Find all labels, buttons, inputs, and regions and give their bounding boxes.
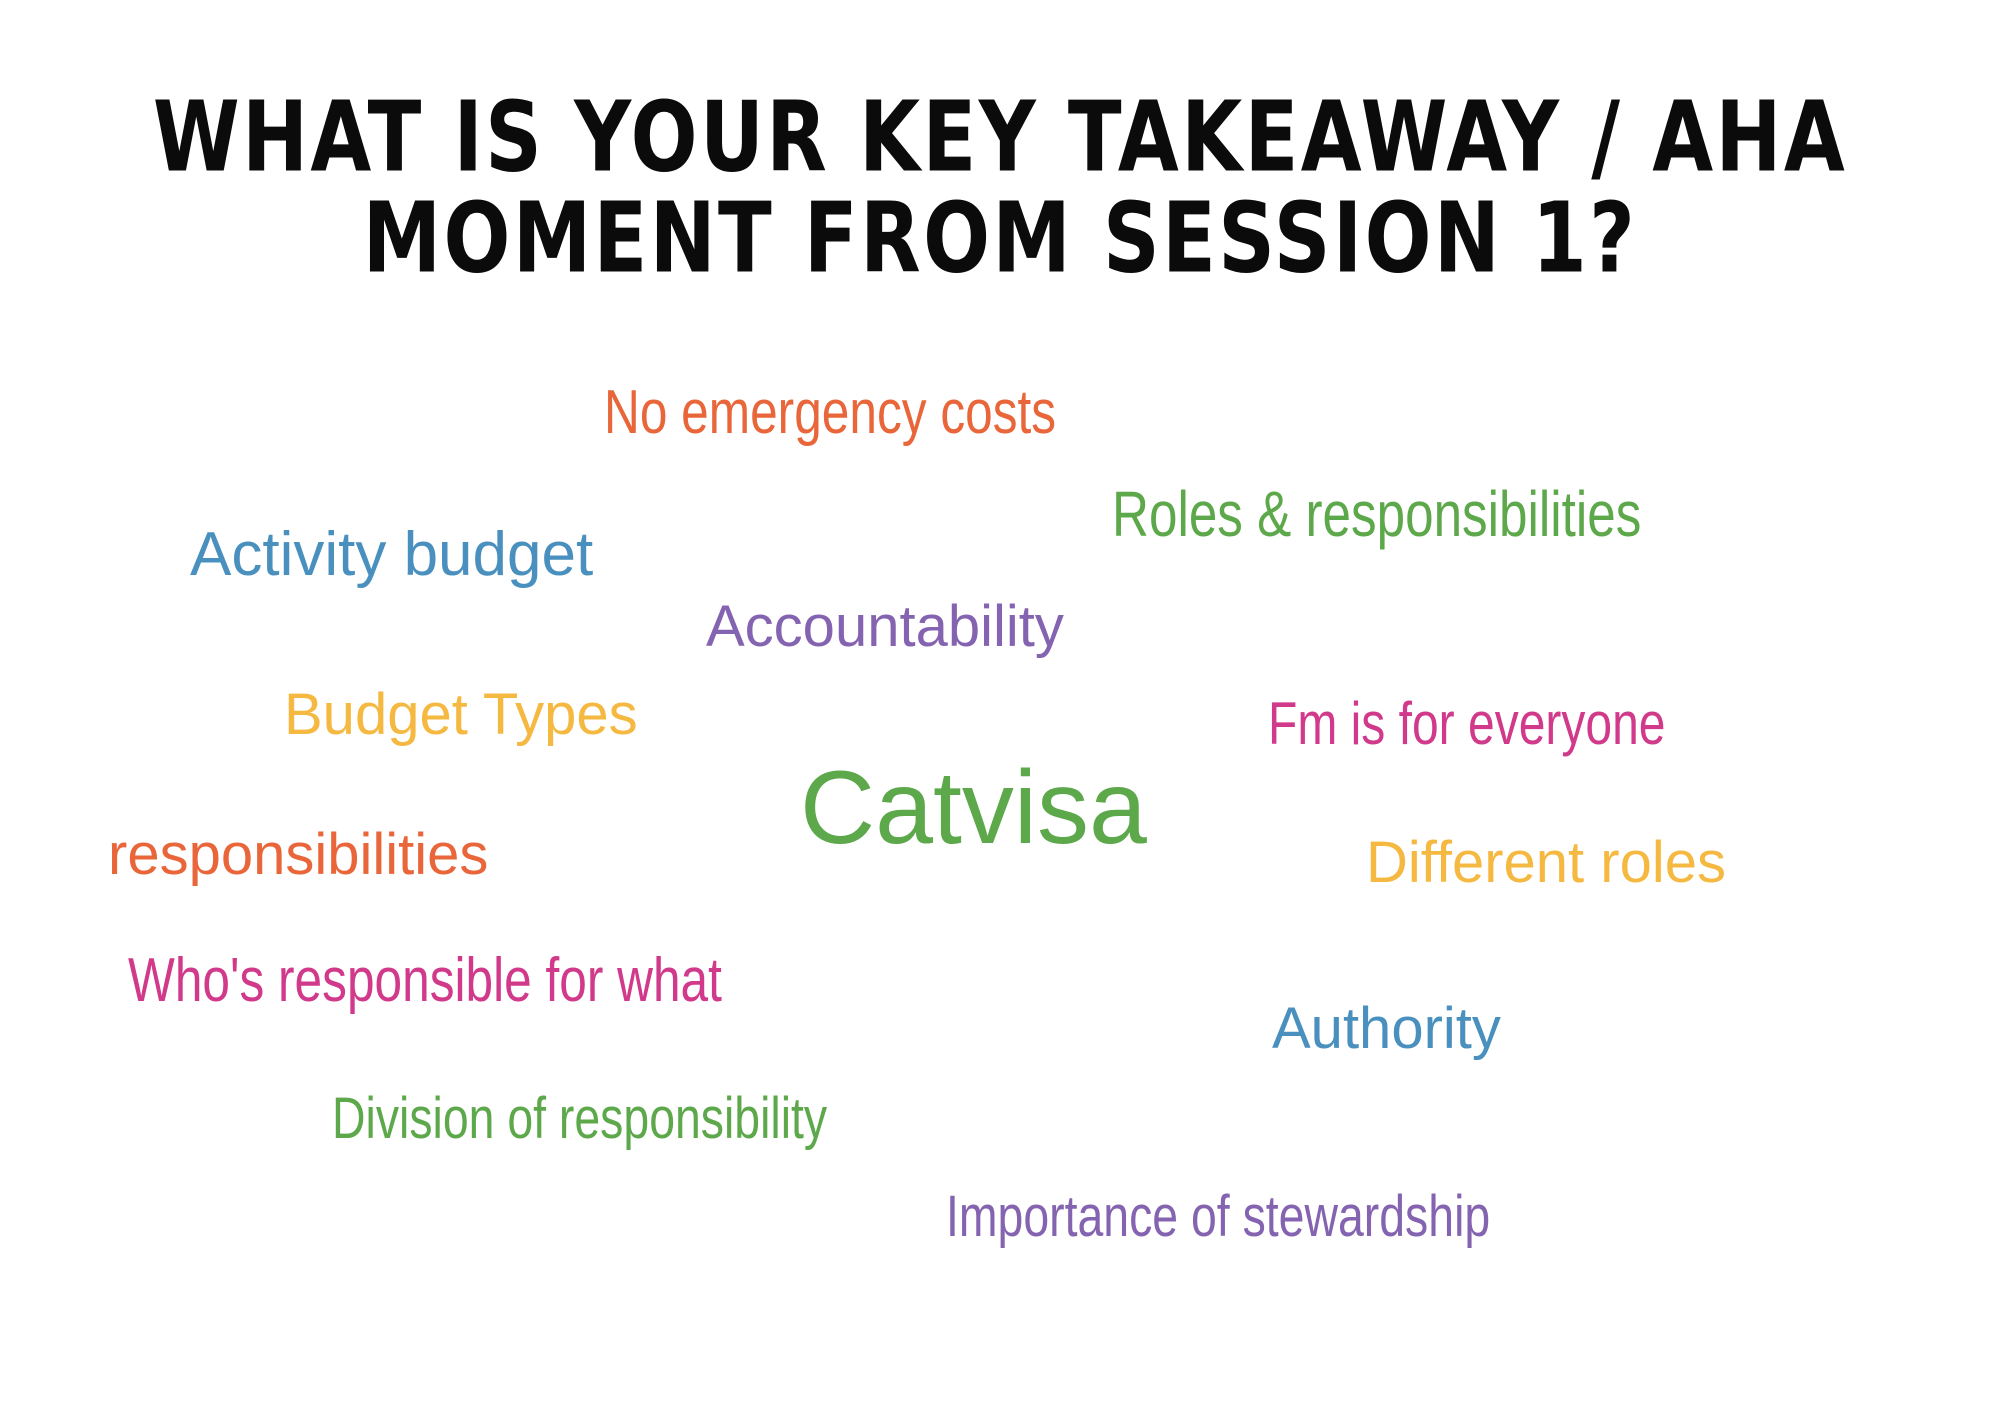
cloud-word: Catvisa <box>800 756 1147 860</box>
cloud-word: responsibilities <box>108 826 488 884</box>
cloud-word: Different roles <box>1366 834 1726 892</box>
cloud-word: Division of responsibility <box>332 1090 827 1148</box>
cloud-word: Authority <box>1272 1000 1501 1058</box>
cloud-word: Who's responsible for what <box>128 950 722 1012</box>
cloud-word: No emergency costs <box>604 382 1056 444</box>
word-cloud: No emergency costsRoles & responsibiliti… <box>0 0 2000 1414</box>
cloud-word: Budget Types <box>284 686 638 744</box>
cloud-word: Accountability <box>706 598 1064 656</box>
cloud-word: Activity budget <box>190 524 593 586</box>
cloud-word: Fm is for everyone <box>1268 694 1665 754</box>
cloud-word: Importance of stewardship <box>946 1188 1490 1246</box>
cloud-word: Roles & responsibilities <box>1112 482 1641 546</box>
